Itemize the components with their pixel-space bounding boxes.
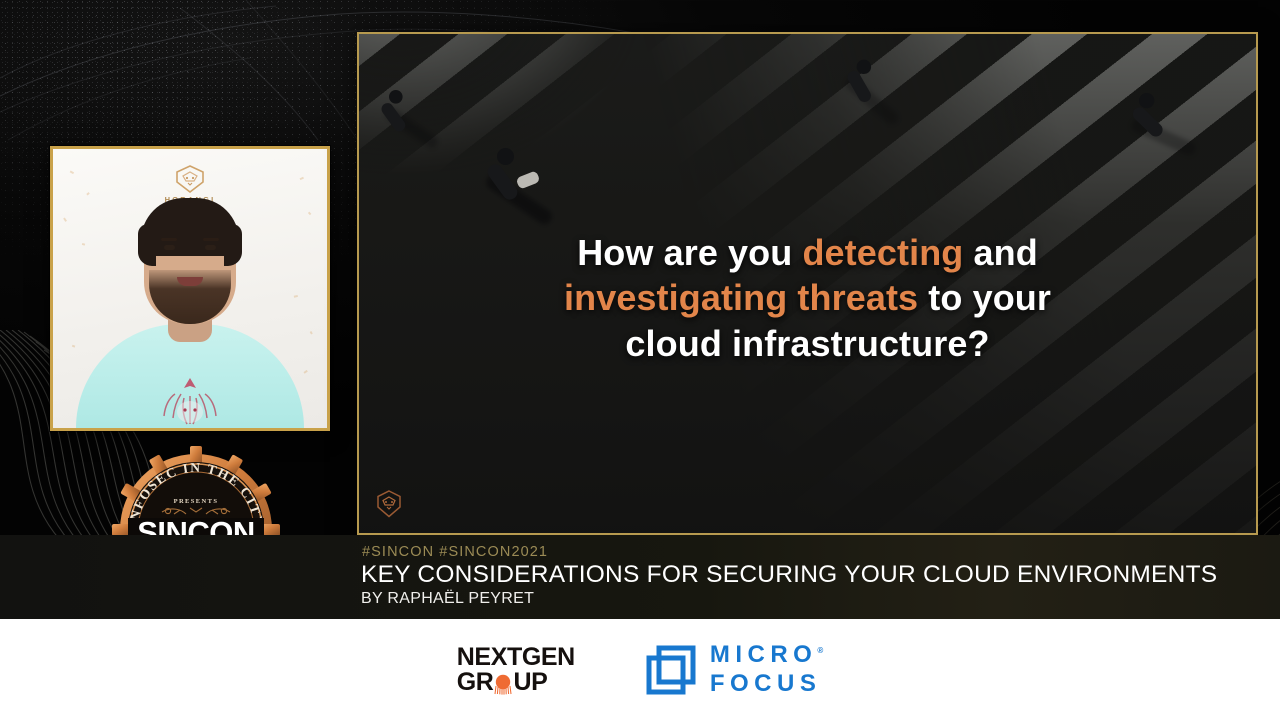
nextgen-line-1: NEXTGEN <box>457 645 575 670</box>
horangi-tiger-icon <box>376 490 402 518</box>
microfocus-line-1: MICRO® <box>710 643 823 667</box>
slide-text-1-highlight: detecting <box>802 232 963 273</box>
slide-text-1a: How are you <box>577 232 802 273</box>
speaker-hair <box>141 198 239 256</box>
slide-text-1b: and <box>963 232 1037 273</box>
horangi-tiger-icon <box>175 165 205 193</box>
badge-presents-text: PRESENTS <box>174 498 219 505</box>
speaker-eye-right <box>205 245 216 250</box>
presentation-slide[interactable]: How are you detecting and investigating … <box>357 32 1258 535</box>
slide-headline-line-3: cloud infrastructure? <box>411 321 1204 366</box>
slide-headline-line-2: investigating threats to your <box>411 275 1204 320</box>
microfocus-squares-icon <box>645 644 697 696</box>
sponsor-logo-microfocus[interactable]: MICRO® FOCUS <box>645 643 823 696</box>
talk-title: KEY CONSIDERATIONS FOR SECURING YOUR CLO… <box>361 561 1217 589</box>
microfocus-line-2: FOCUS <box>710 672 823 696</box>
slide-headline: How are you detecting and investigating … <box>359 230 1256 366</box>
lower-third-title-band: #SINCON #SINCON2021 KEY CONSIDERATIONS F… <box>0 535 1280 619</box>
livestream-frame: HORANGI CYBERSECURITY <box>0 0 1280 720</box>
tiger-shirt-graphic <box>151 372 229 428</box>
microfocus-micro-text: MICRO <box>710 641 818 668</box>
nextgen-up-text: UP <box>513 670 547 695</box>
nextgen-gr-text: GR <box>457 670 494 695</box>
nextgen-line-2: GR UP <box>457 670 575 695</box>
slide-text-2-highlight: investigating threats <box>564 277 918 318</box>
event-hashtags: #SINCON #SINCON2021 <box>362 544 548 560</box>
speaker-webcam-panel[interactable]: HORANGI CYBERSECURITY <box>50 146 330 431</box>
speaker-byline: BY RAPHAËL PEYRET <box>361 590 534 608</box>
sponsor-bar: NEXTGEN GR UP <box>0 619 1280 720</box>
speaker-eyebrow-right <box>203 238 219 242</box>
slide-text-2b: to your <box>918 277 1051 318</box>
registered-mark: ® <box>817 646 823 655</box>
microfocus-wordmark: MICRO® FOCUS <box>710 643 823 696</box>
sponsor-logo-nextgen[interactable]: NEXTGEN GR UP <box>457 645 575 694</box>
speaker-eye-left <box>164 245 175 250</box>
slide-headline-line-1: How are you detecting and <box>411 230 1204 275</box>
speaker-video <box>53 192 327 428</box>
sunburst-icon <box>492 673 514 695</box>
speaker-eyebrow-left <box>161 238 177 242</box>
